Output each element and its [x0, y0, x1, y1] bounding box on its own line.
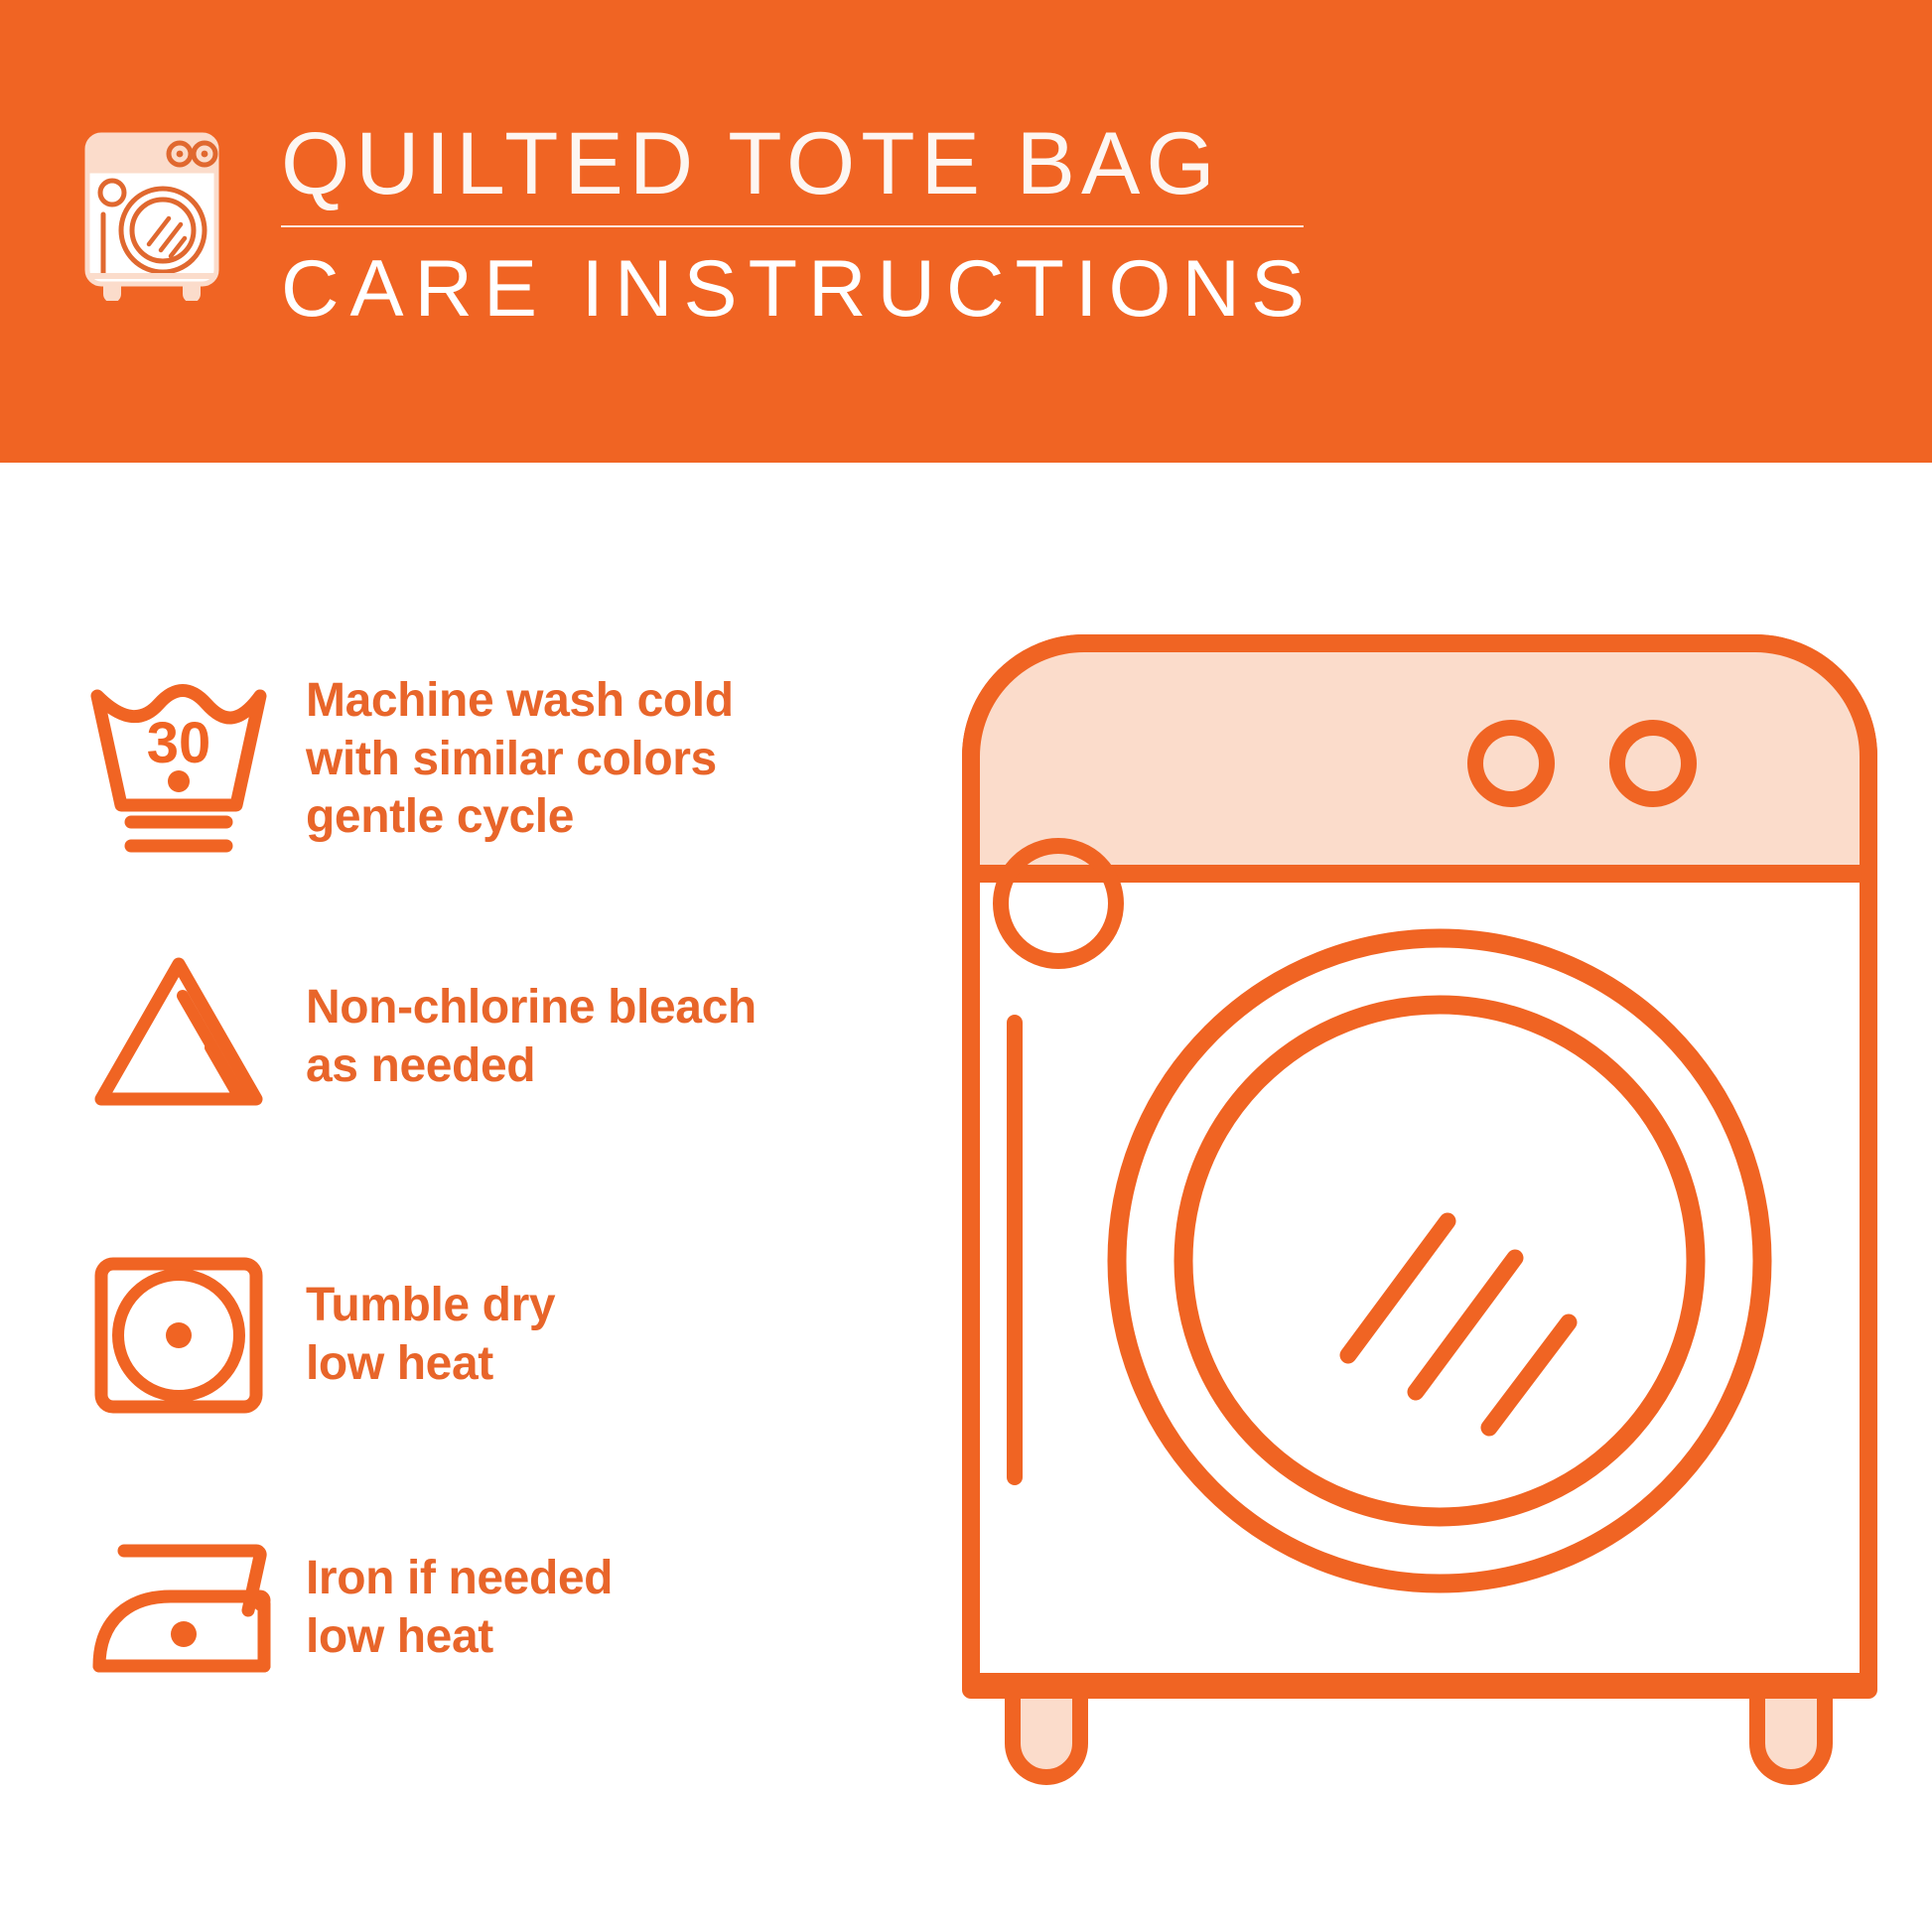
title-divider — [281, 225, 1304, 227]
care-instructions-page: QUILTED TOTE BAG CARE INSTRUCTIONS 30 Ma… — [0, 0, 1932, 1932]
non-chlorine-bleach-triangle-icon — [79, 938, 278, 1137]
care-item-label: Machine wash cold with similar colors ge… — [306, 672, 734, 847]
header-text-block: QUILTED TOTE BAG CARE INSTRUCTIONS — [281, 119, 1333, 330]
header-banner: QUILTED TOTE BAG CARE INSTRUCTIONS — [0, 0, 1932, 463]
wash-tub-30-gentle-icon: 30 — [79, 660, 278, 859]
care-item-label: Iron if needed low heat — [306, 1550, 613, 1666]
care-item-label: Non-chlorine bleach as needed — [306, 979, 757, 1095]
page-title: QUILTED TOTE BAG — [281, 119, 1333, 207]
washing-machine-illustration — [953, 625, 1886, 1886]
iron-low-heat-icon — [79, 1509, 278, 1708]
washing-machine-icon — [77, 127, 226, 301]
tumble-dry-low-heat-icon — [79, 1236, 278, 1435]
care-item-label: Tumble dry low heat — [306, 1277, 555, 1393]
care-item-tumble-dry: Tumble dry low heat — [79, 1236, 555, 1435]
page-subtitle: CARE INSTRUCTIONS — [281, 249, 1333, 330]
care-item-machine-wash: 30 Machine wash cold with similar colors… — [79, 660, 734, 859]
care-item-bleach: Non-chlorine bleach as needed — [79, 938, 757, 1137]
wash-temperature-value: 30 — [147, 711, 211, 775]
care-item-iron: Iron if needed low heat — [79, 1509, 613, 1708]
